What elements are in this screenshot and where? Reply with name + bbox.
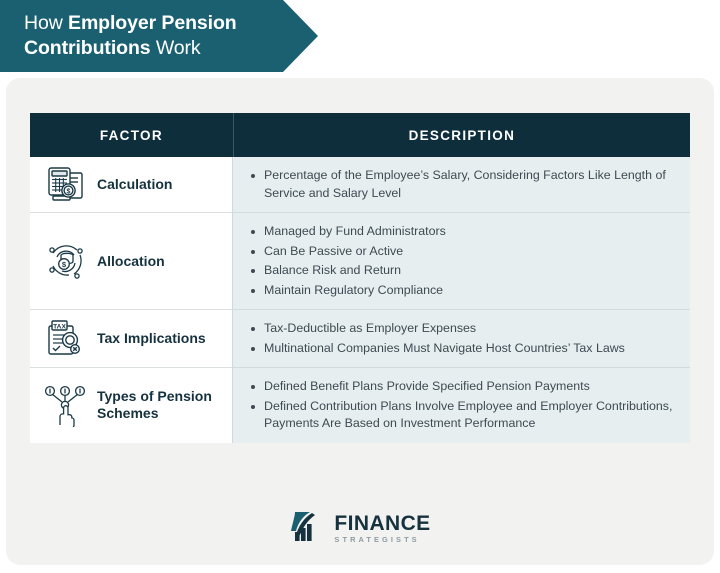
factor-cell: $ Calculation [30, 157, 233, 213]
title-line2-light: Work [151, 37, 201, 59]
logo-wordmark: FINANCE [334, 513, 430, 534]
table-header-row: FACTOR DESCRIPTION [30, 113, 690, 157]
list-item: Percentage of the Employee’s Salary, Con… [251, 167, 676, 202]
title-ribbon: How Employer Pension Contributions Work [0, 0, 318, 72]
calculator-document-icon: $ [42, 162, 90, 208]
tax-document-coins-icon: TAX [42, 316, 90, 362]
title-line1-light: How [24, 12, 68, 34]
list-item: Defined Contribution Plans Involve Emplo… [251, 398, 676, 433]
list-item: Tax-Deductible as Employer Expenses [251, 320, 676, 338]
table-row: Types of Pension Schemes Defined Benefit… [30, 368, 690, 443]
bullet-list: Tax-Deductible as Employer Expenses Mult… [251, 320, 676, 357]
list-item: Maintain Regulatory Compliance [251, 282, 676, 300]
logo-text: FINANCE STRATEGISTS [334, 513, 430, 543]
factor-description-table: FACTOR DESCRIPTION [30, 113, 690, 443]
hand-choosing-options-icon [42, 382, 90, 428]
factor-label: Tax Implications [97, 330, 206, 347]
column-header-description: DESCRIPTION [234, 113, 690, 157]
title-line2-bold: Contributions [24, 37, 151, 59]
factor-cell: TAX Tax Implications [30, 310, 233, 368]
page-title: How Employer Pension Contributions Work [24, 11, 286, 61]
column-header-factor: FACTOR [30, 113, 234, 157]
factor-cell: Types of Pension Schemes [30, 368, 233, 443]
fund-allocation-network-icon: $ [42, 238, 90, 284]
factor-label: Allocation [97, 253, 165, 270]
svg-text:$: $ [67, 188, 71, 195]
finance-strategists-chart-mark [289, 510, 327, 547]
list-item: Defined Benefit Plans Provide Specified … [251, 378, 676, 396]
bullet-list: Percentage of the Employee’s Salary, Con… [251, 167, 676, 202]
factor-label: Calculation [97, 176, 172, 193]
title-line1-bold: Employer Pension [68, 12, 237, 34]
bullet-list: Defined Benefit Plans Provide Specified … [251, 378, 676, 433]
table-row: $ Allocation Managed by Fund Administrat… [30, 213, 690, 310]
factor-cell: $ Allocation [30, 213, 233, 310]
table-row: TAX Tax Implications Tax-Deductible as E… [30, 310, 690, 368]
svg-text:TAX: TAX [53, 323, 66, 330]
description-cell: Tax-Deductible as Employer Expenses Mult… [233, 310, 690, 368]
factor-label: Types of Pension Schemes [97, 388, 232, 422]
list-item: Balance Risk and Return [251, 262, 676, 280]
brand-logo: FINANCE STRATEGISTS [0, 505, 720, 551]
list-item: Can Be Passive or Active [251, 243, 676, 261]
bullet-list: Managed by Fund Administrators Can Be Pa… [251, 223, 676, 299]
logo-tagline: STRATEGISTS [334, 536, 430, 543]
description-cell: Managed by Fund Administrators Can Be Pa… [233, 213, 690, 310]
list-item: Managed by Fund Administrators [251, 223, 676, 241]
description-cell: Percentage of the Employee’s Salary, Con… [233, 157, 690, 213]
description-cell: Defined Benefit Plans Provide Specified … [233, 368, 690, 443]
list-item: Multinational Companies Must Navigate Ho… [251, 340, 676, 358]
table-row: $ Calculation Percentage of the Employee… [30, 157, 690, 213]
